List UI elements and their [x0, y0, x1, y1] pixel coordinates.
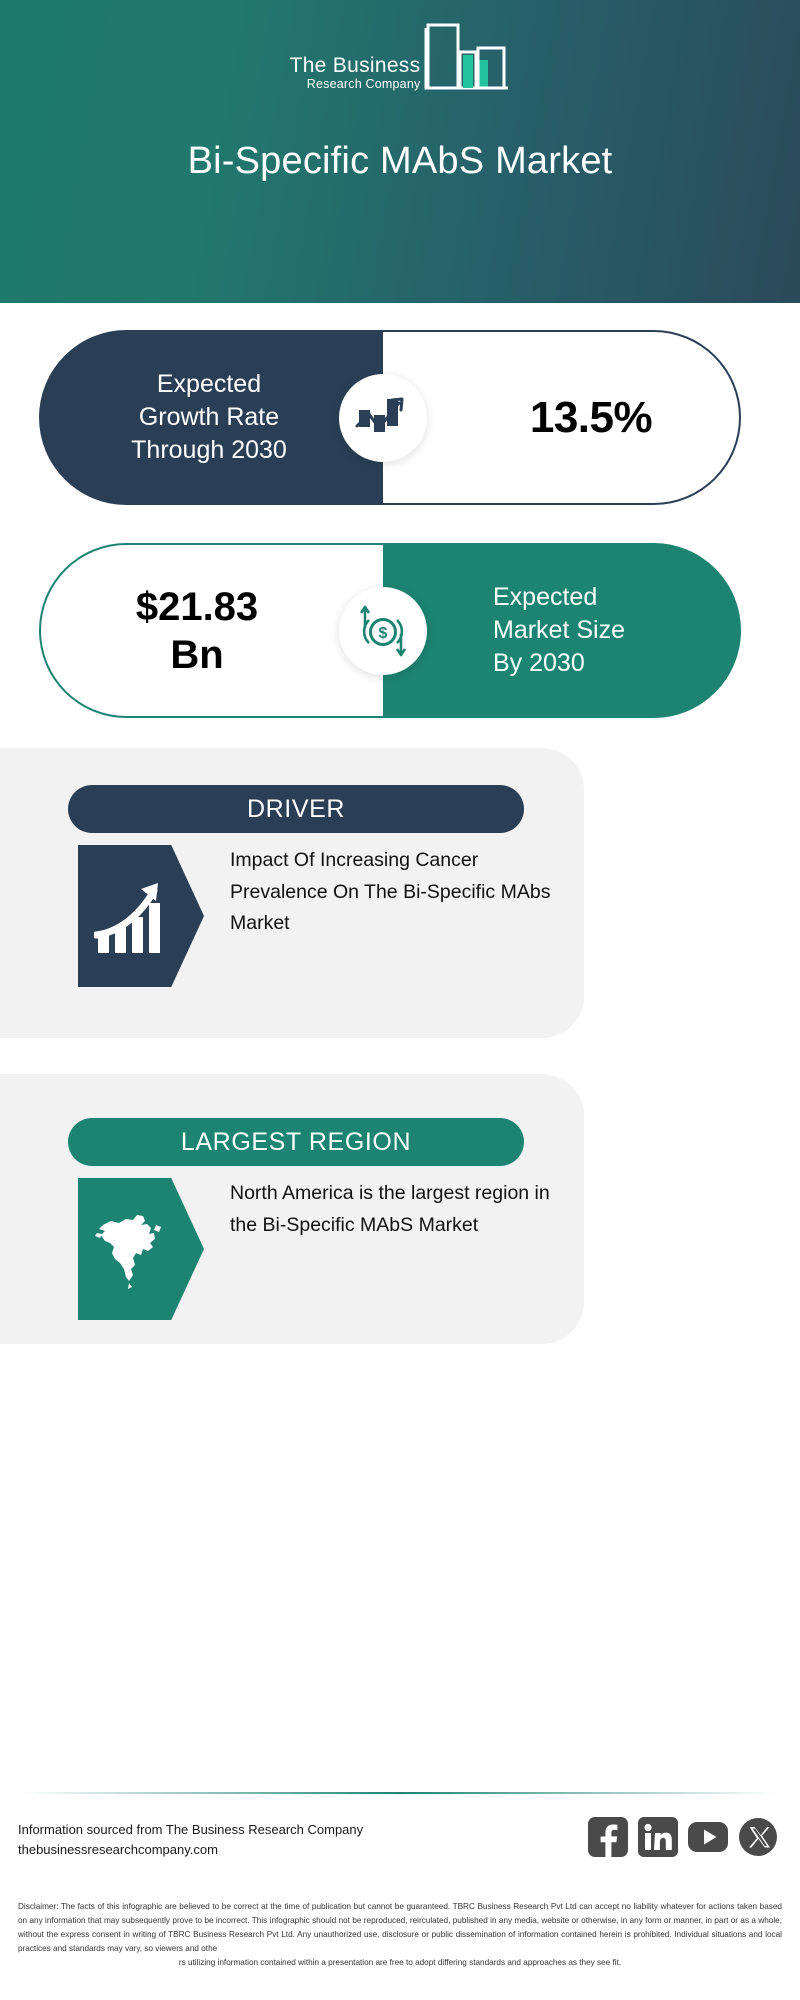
- stat-card-market-size: $21.83 Bn Expected Market Size By 2030 $: [0, 543, 800, 718]
- dollar-circle-arrows-icon: $: [339, 587, 427, 675]
- growth-rate-label: Expected Growth Rate Through 2030: [91, 368, 331, 467]
- facebook-icon[interactable]: [588, 1817, 628, 1857]
- source-attribution: Information sourced from The Business Re…: [18, 1820, 363, 1860]
- driver-pill: DRIVER: [68, 785, 524, 833]
- growth-bar-chart-arrow-icon: [339, 374, 427, 462]
- largest-region-pill: LARGEST REGION: [68, 1118, 524, 1166]
- company-logo: The Business Research Company: [0, 22, 800, 99]
- market-size-label: Expected Market Size By 2030: [447, 581, 677, 680]
- growth-rate-label-panel: Expected Growth Rate Through 2030: [39, 330, 383, 505]
- x-twitter-icon[interactable]: [738, 1817, 778, 1857]
- footer-divider: [20, 1792, 780, 1794]
- svg-text:™: ™: [673, 1850, 678, 1856]
- source-website[interactable]: thebusinessresearchcompany.com: [18, 1840, 363, 1860]
- disclaimer-body: Disclaimer: The facts of this infographi…: [18, 1902, 782, 1953]
- social-links: ™: [588, 1817, 778, 1857]
- growth-rate-value: 13.5%: [470, 393, 652, 443]
- svg-text:$: $: [379, 625, 388, 642]
- largest-region-pill-label: LARGEST REGION: [181, 1128, 411, 1157]
- rising-bar-chart-arrow-icon: [78, 845, 204, 987]
- header-banner: The Business Research Company Bi-Specifi…: [0, 0, 800, 303]
- driver-content: Impact Of Increasing Cancer Prevalence O…: [78, 845, 560, 987]
- market-size-value: $21.83 Bn: [112, 583, 312, 679]
- north-america-map-icon: [78, 1178, 204, 1320]
- market-size-label-panel: Expected Market Size By 2030: [383, 543, 741, 718]
- disclaimer-text: Disclaimer: The facts of this infographi…: [18, 1900, 782, 1971]
- bar-chart-logo-mark: [422, 22, 510, 99]
- disclaimer-last-line: rs utilizing information contained withi…: [18, 1956, 782, 1970]
- source-line-1: Information sourced from The Business Re…: [18, 1820, 363, 1840]
- market-size-value-panel: $21.83 Bn: [39, 543, 383, 718]
- growth-rate-value-panel: 13.5%: [383, 330, 741, 505]
- driver-text: Impact Of Increasing Cancer Prevalence O…: [230, 845, 560, 940]
- linkedin-icon[interactable]: ™: [638, 1817, 678, 1857]
- largest-region-content: North America is the largest region in t…: [78, 1178, 560, 1320]
- stat-card-growth-rate: Expected Growth Rate Through 2030 13.5%: [0, 330, 800, 505]
- page-title: Bi-Specific MAbS Market: [0, 140, 800, 183]
- largest-region-text: North America is the largest region in t…: [230, 1178, 560, 1241]
- logo-secondary-text: Research Company: [290, 77, 421, 93]
- driver-pill-label: DRIVER: [247, 795, 345, 824]
- youtube-icon[interactable]: [688, 1817, 728, 1857]
- logo-primary-text: The Business: [290, 55, 421, 77]
